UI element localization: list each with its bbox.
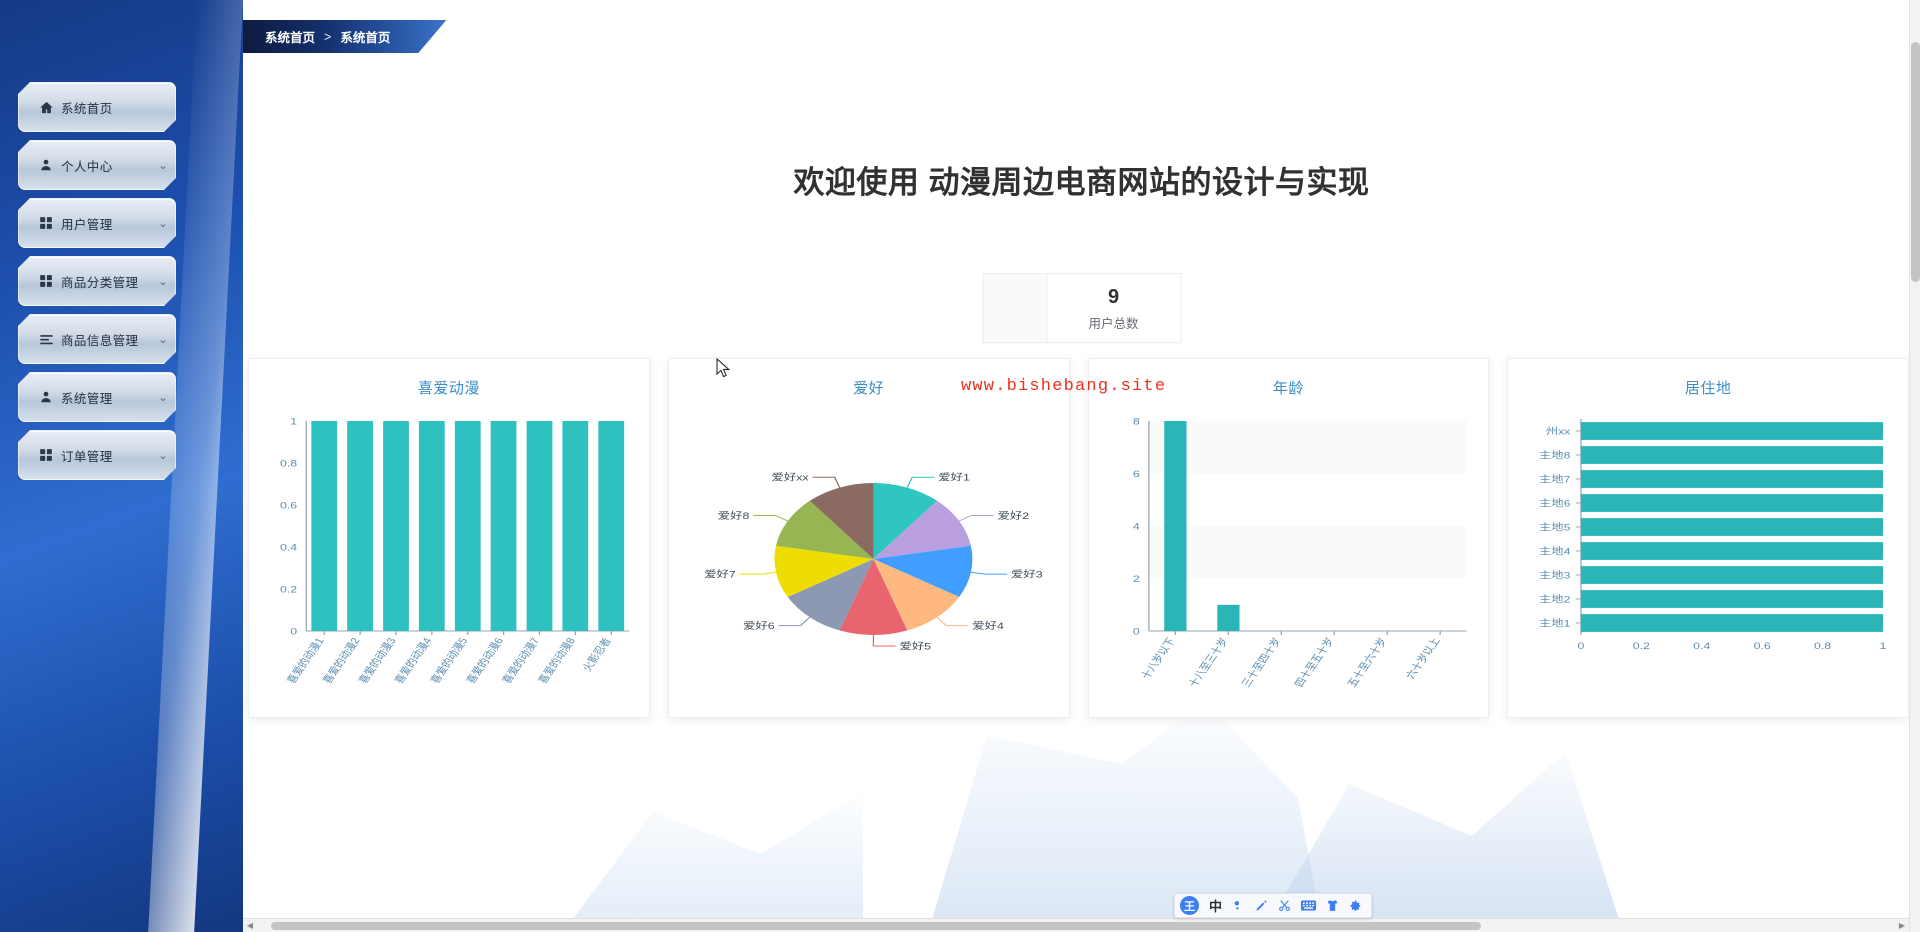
chart-canvas-favorite-anime: 00.20.40.60.81喜爱的动漫1喜爱的动漫2喜爱的动漫3喜爱的动漫4喜爱… xyxy=(249,403,649,717)
svg-text:0.6: 0.6 xyxy=(280,501,297,511)
svg-text:火影忍者: 火影忍者 xyxy=(579,636,614,673)
svg-text:十八岁以下: 十八岁以下 xyxy=(1137,636,1177,681)
gear-icon[interactable] xyxy=(1349,899,1362,912)
svg-text:爱好5: 爱好5 xyxy=(899,640,931,652)
horizontal-scrollbar-thumb[interactable] xyxy=(271,922,1481,930)
page-title: 欢迎使用 动漫周边电商网站的设计与实现 xyxy=(243,157,1920,202)
svg-text:6: 6 xyxy=(1132,469,1139,479)
sidebar-item-label: 用户管理 xyxy=(61,214,151,233)
svg-text:1: 1 xyxy=(290,417,297,427)
list-icon xyxy=(31,332,61,347)
svg-text:0.8: 0.8 xyxy=(1814,641,1831,651)
sidebar-item-order-management[interactable]: 订单管理 ⌄ xyxy=(18,430,176,480)
scroll-left-arrow[interactable]: ◀ xyxy=(243,919,257,932)
stat-icon-cell xyxy=(983,274,1047,342)
chevron-down-icon[interactable]: ⌄ xyxy=(151,217,175,230)
sidebar-item-label: 订单管理 xyxy=(61,446,151,465)
svg-text:爱好3: 爱好3 xyxy=(1011,568,1043,580)
svg-text:0: 0 xyxy=(1132,627,1139,637)
sidebar-item-user-management[interactable]: 用户管理 ⌄ xyxy=(18,198,176,248)
keyboard-icon[interactable] xyxy=(1301,899,1316,912)
svg-text:喜爱的动漫5: 喜爱的动漫5 xyxy=(427,636,471,686)
chart-canvas-residence: 00.20.40.60.81州xx主地8主地7主地6主地5主地4主地3主地2主地… xyxy=(1508,403,1908,717)
sidebar-item-home[interactable]: 系统首页 xyxy=(18,82,176,132)
svg-text:0.2: 0.2 xyxy=(280,585,297,595)
svg-text:主地1: 主地1 xyxy=(1539,618,1571,629)
main-content: 系统首页 > 系统首页 欢迎使用 动漫周边电商网站的设计与实现 9 用户总数 喜… xyxy=(243,0,1920,932)
chevron-down-icon[interactable]: ⌄ xyxy=(151,449,175,462)
sidebar-item-label: 个人中心 xyxy=(61,156,151,175)
svg-text:8: 8 xyxy=(1132,417,1139,427)
svg-text:爱好xx: 爱好xx xyxy=(771,471,809,483)
svg-text:喜爱的动漫7: 喜爱的动漫7 xyxy=(499,636,543,686)
chart-card-hobby: 爱好 爱好1爱好2爱好3爱好4爱好5爱好6爱好7爱好8爱好xx xyxy=(668,358,1070,718)
sidebar-item-label: 系统管理 xyxy=(61,388,151,407)
chart-title: 年龄 xyxy=(1089,377,1489,398)
svg-text:五十至六十岁: 五十至六十岁 xyxy=(1344,636,1390,689)
stat-card-total-users: 9 用户总数 xyxy=(982,273,1181,343)
scissors-icon[interactable] xyxy=(1278,899,1291,912)
app-root: 系统首页 个人中心 ⌄ 用户管理 ⌄ xyxy=(0,0,1920,932)
sidebar-item-label: 系统首页 xyxy=(61,98,151,117)
shirt-icon[interactable] xyxy=(1326,899,1339,912)
scroll-right-arrow[interactable]: ▶ xyxy=(1895,919,1909,932)
horizontal-scrollbar[interactable]: ◀ ▶ xyxy=(243,918,1909,932)
svg-text:十八至三十岁: 十八至三十岁 xyxy=(1185,636,1231,689)
pen-icon[interactable] xyxy=(1255,899,1268,912)
chart-card-favorite-anime: 喜爱动漫 00.20.40.60.81喜爱的动漫1喜爱的动漫2喜爱的动漫3喜爱的… xyxy=(248,358,650,718)
sidebar-item-system-management[interactable]: 系统管理 ⌄ xyxy=(18,372,176,422)
sidebar-item-product-category-management[interactable]: 商品分类管理 ⌄ xyxy=(18,256,176,306)
ime-toolbar[interactable]: 王 中 xyxy=(1174,893,1372,918)
chart-title: 爱好 xyxy=(669,377,1069,398)
vertical-scrollbar[interactable] xyxy=(1909,0,1920,932)
svg-text:0.2: 0.2 xyxy=(1633,641,1650,651)
svg-text:主地4: 主地4 xyxy=(1539,546,1571,557)
svg-text:喜爱的动漫8: 喜爱的动漫8 xyxy=(535,636,579,686)
sidebar-menu: 系统首页 个人中心 ⌄ 用户管理 ⌄ xyxy=(0,0,243,480)
svg-text:主地2: 主地2 xyxy=(1539,594,1571,605)
svg-text:三十至四十岁: 三十至四十岁 xyxy=(1238,636,1284,689)
user-icon xyxy=(31,390,61,404)
chevron-down-icon[interactable]: ⌄ xyxy=(151,275,175,288)
stat-body: 9 用户总数 xyxy=(1047,274,1180,342)
breadcrumb-current: 系统首页 xyxy=(340,27,390,46)
svg-text:1: 1 xyxy=(1880,641,1887,651)
sidebar-item-product-info-management[interactable]: 商品信息管理 ⌄ xyxy=(18,314,176,364)
sidebar-item-label: 商品分类管理 xyxy=(61,272,151,291)
svg-text:六十岁以上: 六十岁以上 xyxy=(1402,636,1442,681)
chart-card-age: 年龄 02468十八岁以下十八至三十岁三十至四十岁四十至五十岁五十至六十岁六十岁… xyxy=(1088,358,1490,718)
sidebar: 系统首页 个人中心 ⌄ 用户管理 ⌄ xyxy=(0,0,243,932)
svg-text:0.6: 0.6 xyxy=(1754,641,1771,651)
sidebar-item-label: 商品信息管理 xyxy=(61,330,151,349)
breadcrumb: 系统首页 > 系统首页 xyxy=(243,20,446,53)
chevron-down-icon[interactable]: ⌄ xyxy=(151,391,175,404)
svg-text:主地8: 主地8 xyxy=(1539,450,1571,461)
voice-icon[interactable] xyxy=(1232,899,1245,912)
chart-title: 居住地 xyxy=(1508,377,1908,398)
chevron-down-icon[interactable]: ⌄ xyxy=(151,333,175,346)
chart-card-residence: 居住地 00.20.40.60.81州xx主地8主地7主地6主地5主地4主地3主… xyxy=(1507,358,1909,718)
chevron-down-icon[interactable]: ⌄ xyxy=(151,159,175,172)
svg-text:喜爱的动漫1: 喜爱的动漫1 xyxy=(284,636,328,686)
svg-text:爱好8: 爱好8 xyxy=(717,510,749,522)
svg-text:爱好7: 爱好7 xyxy=(704,568,736,580)
svg-text:爱好1: 爱好1 xyxy=(938,471,970,483)
breadcrumb-separator: > xyxy=(324,30,331,44)
svg-text:4: 4 xyxy=(1132,522,1139,532)
svg-text:主地7: 主地7 xyxy=(1539,474,1571,485)
chart-row: 喜爱动漫 00.20.40.60.81喜爱的动漫1喜爱的动漫2喜爱的动漫3喜爱的… xyxy=(246,358,1911,718)
ime-logo-icon[interactable]: 王 xyxy=(1180,896,1199,915)
chart-canvas-hobby: 爱好1爱好2爱好3爱好4爱好5爱好6爱好7爱好8爱好xx xyxy=(669,403,1069,717)
stat-value: 9 xyxy=(1108,285,1119,309)
svg-text:爱好4: 爱好4 xyxy=(972,620,1004,632)
vertical-scrollbar-thumb[interactable] xyxy=(1911,42,1920,282)
svg-text:主地5: 主地5 xyxy=(1539,522,1571,533)
stat-label: 用户总数 xyxy=(1088,313,1138,332)
svg-text:0.8: 0.8 xyxy=(280,459,297,469)
svg-text:喜爱的动漫3: 喜爱的动漫3 xyxy=(356,636,400,686)
grid-icon xyxy=(31,274,61,288)
svg-text:主地6: 主地6 xyxy=(1539,498,1571,509)
ime-mode-button[interactable]: 中 xyxy=(1209,896,1222,915)
grid-icon xyxy=(31,216,61,230)
svg-text:四十至五十岁: 四十至五十岁 xyxy=(1291,636,1337,689)
svg-text:喜爱的动漫2: 喜爱的动漫2 xyxy=(320,636,364,686)
svg-text:0: 0 xyxy=(290,627,297,637)
user-icon xyxy=(31,158,61,172)
svg-text:0.4: 0.4 xyxy=(280,543,297,553)
sidebar-item-personal-center[interactable]: 个人中心 ⌄ xyxy=(18,140,176,190)
svg-text:0.4: 0.4 xyxy=(1693,641,1710,651)
svg-text:州xx: 州xx xyxy=(1546,427,1571,437)
chart-title: 喜爱动漫 xyxy=(249,377,649,398)
svg-text:爱好6: 爱好6 xyxy=(743,620,775,632)
svg-text:0: 0 xyxy=(1578,641,1585,651)
breadcrumb-root[interactable]: 系统首页 xyxy=(265,27,315,46)
svg-text:主地3: 主地3 xyxy=(1539,570,1571,581)
grid-icon xyxy=(31,448,61,462)
svg-text:爱好2: 爱好2 xyxy=(997,510,1029,522)
svg-text:喜爱的动漫4: 喜爱的动漫4 xyxy=(391,636,435,686)
home-icon xyxy=(31,100,61,115)
chart-canvas-age: 02468十八岁以下十八至三十岁三十至四十岁四十至五十岁五十至六十岁六十岁以上 xyxy=(1089,403,1489,717)
svg-text:2: 2 xyxy=(1132,574,1139,584)
svg-text:喜爱的动漫6: 喜爱的动漫6 xyxy=(463,636,507,686)
